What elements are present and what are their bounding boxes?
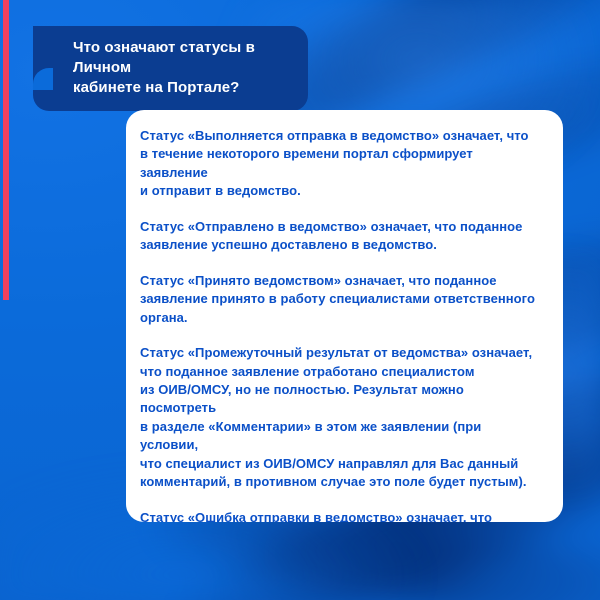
answer-card: Статус «Выполняется отправка в ведомство… bbox=[126, 110, 563, 522]
answer-card-body: Статус «Выполняется отправка в ведомство… bbox=[140, 127, 541, 522]
question-bubble-inner: Что означают статусы в Личном кабинете н… bbox=[73, 38, 290, 97]
answer-paragraph: Статус «Принято ведомством» означает, чт… bbox=[140, 272, 541, 327]
answer-paragraph: Статус «Ошибка отправки в ведомство» озн… bbox=[140, 509, 541, 522]
left-accent-stripe bbox=[3, 0, 9, 300]
question-text: Что означают статусы в Личном кабинете н… bbox=[73, 38, 290, 97]
slide-canvas: Что означают статусы в Личном кабинете н… bbox=[0, 0, 600, 600]
answer-paragraph: Статус «Выполняется отправка в ведомство… bbox=[140, 127, 541, 201]
answer-paragraph: Статус «Промежуточный результат от ведом… bbox=[140, 344, 541, 492]
question-speech-bubble: Что означают статусы в Личном кабинете н… bbox=[33, 26, 308, 111]
answer-paragraph: Статус «Отправлено в ведомство» означает… bbox=[140, 218, 541, 255]
